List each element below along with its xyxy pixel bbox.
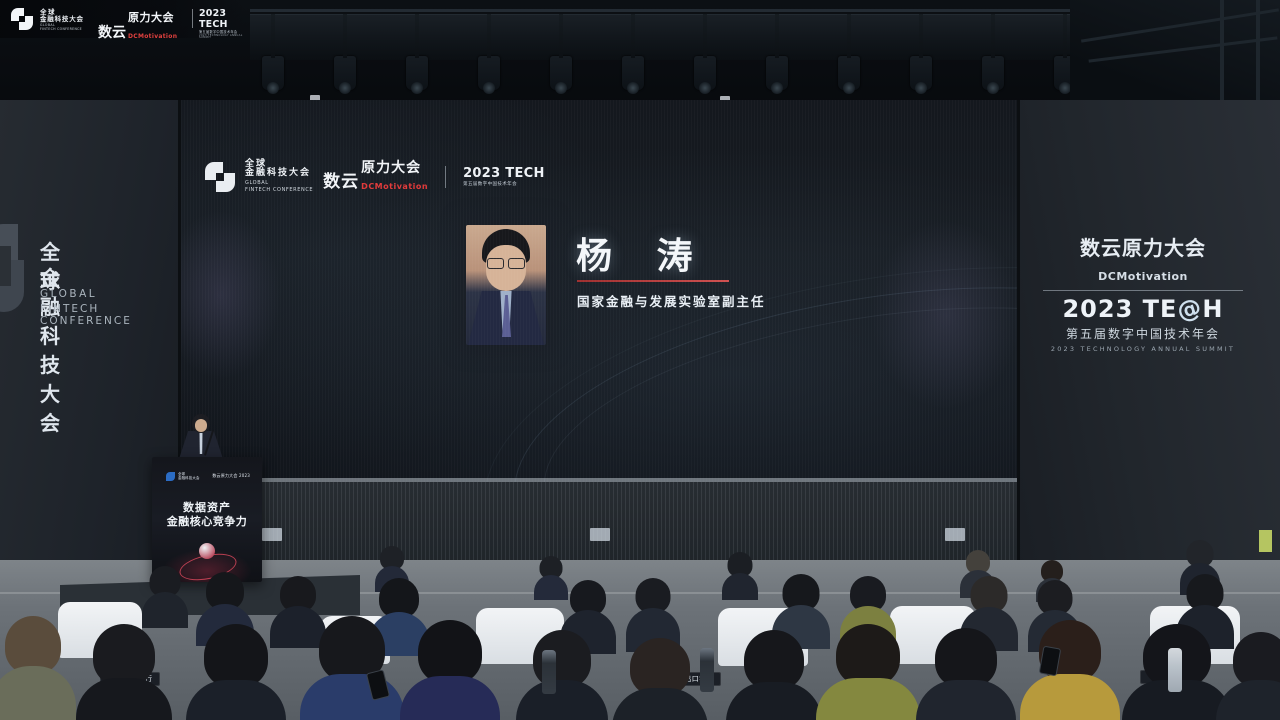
fintech-wordmark: 全球 金融科技大会 GLOBAL FINTECH CONFERENCE (40, 9, 84, 31)
tech-summit-logo: 2023 TECH 第五届数字中国技术年会 (463, 166, 545, 187)
audience-member (516, 630, 608, 720)
light-hanger (343, 14, 347, 58)
stage-light (622, 56, 644, 90)
right-wall-en-sub: 2023 TECHNOLOGY ANNUAL SUMMIT (1028, 345, 1258, 353)
audience-member (612, 638, 708, 720)
right-wall-en-title: DCMotivation (1098, 270, 1188, 283)
live-speaker (178, 414, 224, 462)
speaker-portrait-photo (466, 225, 546, 345)
audience-member (816, 624, 920, 720)
overlay-year: 2023 TECH (199, 9, 245, 31)
right-wall-year: 2023 TE@H (1028, 295, 1258, 323)
stage-light (550, 56, 572, 90)
speaker-name-rule (577, 280, 729, 282)
audience-member (300, 616, 404, 720)
light-hanger (775, 14, 779, 58)
audience-member (400, 620, 500, 720)
overlay-dc-mark: 数云 (98, 22, 126, 42)
overlay-dc-title: 原力大会 (128, 11, 174, 24)
logo-divider (445, 166, 446, 188)
orbit-arc-2 (526, 268, 1017, 482)
overlay-fintech-en2: FINTECH CONFERENCE (40, 28, 84, 32)
stage-light (262, 56, 284, 90)
right-wall-cn-title: 数云原力大会 DCMotivation (1028, 232, 1258, 285)
stage-light (334, 56, 356, 90)
podium-logo-cn2: 金融科技大会 (178, 477, 200, 481)
fintech-en2: FINTECH CONFERENCE (245, 188, 313, 193)
tech-year: 2023 TECH (463, 166, 545, 181)
nebula-glow-left (181, 210, 281, 380)
audience-member (722, 552, 758, 598)
tech-year-sub: 第五届数字中国技术年会 (463, 181, 545, 187)
orbit-arc-3 (461, 218, 1017, 482)
water-bottle (1168, 648, 1182, 692)
fintech-logo-icon (11, 8, 33, 30)
podium-logo-left: 全球 金融科技大会 (166, 472, 200, 481)
stage-light (838, 56, 860, 90)
dc-title: 原力大会 (361, 161, 428, 176)
conference-hall-scene: 全球 金融科技大会 GLOBAL FINTECH CONFERENCE 数云 原… (0, 0, 1280, 720)
light-hanger (847, 14, 851, 58)
fintech-logo-icon (205, 162, 235, 192)
nebula-glow-right (871, 220, 1017, 410)
right-wall-cn-title-text: 数云原力大会 (1080, 236, 1206, 260)
stage-light (478, 56, 500, 90)
overlay-fintech-cn2: 金融科技大会 (40, 16, 84, 23)
overlay-dc-sub: DCMotivation (128, 33, 177, 40)
speaker-name: 杨 涛 (576, 227, 709, 279)
stage-light (982, 56, 1004, 90)
water-bottle (542, 650, 556, 694)
audience-member (186, 624, 286, 720)
speaker-title: 国家金融与发展实验室副主任 (577, 291, 766, 310)
orbit-arc-1 (494, 243, 1017, 482)
light-hanger (415, 14, 419, 58)
dcmotivation-logo: 数云 原力大会 DCMotivation (323, 161, 428, 192)
audience-member (1020, 620, 1120, 720)
glasses-icon (487, 258, 525, 267)
dc-sub: DCMotivation (361, 182, 428, 191)
podium-logo-text: 全球 金融科技大会 (178, 473, 200, 481)
overlay-divider (192, 9, 193, 28)
right-wall-year-tail: H (1202, 295, 1223, 323)
fintech-cn2: 金融科技大会 (245, 169, 313, 178)
tech-summit-wordmark: 2023 TECH 第五届数字中国技术年会 2023 TECHNOLOGY AN… (199, 9, 245, 40)
audience-member (1216, 632, 1280, 720)
stage-light (766, 56, 788, 90)
right-wall-branding: 数云原力大会 DCMotivation 2023 TE@H 第五届数字中国技术年… (1028, 232, 1258, 353)
light-hanger (703, 14, 707, 58)
audience-member (726, 630, 822, 720)
fintech-cn1: 全球 (245, 160, 313, 169)
audience-member (916, 628, 1016, 720)
stage-light (694, 56, 716, 90)
dc-mark: 数云 (323, 167, 359, 192)
light-hanger (487, 14, 491, 58)
left-wall-logo-icon (0, 224, 32, 312)
stage-light (406, 56, 428, 90)
broadcast-logo-bar: 全球 金融科技大会 GLOBAL FINTECH CONFERENCE 数云 原… (0, 0, 245, 38)
podium-logo-right: 数云原力大会 2023 (212, 473, 250, 479)
audience-member (142, 566, 188, 624)
left-wall-en1: GLOBAL (40, 288, 97, 300)
light-hanger (1063, 14, 1067, 58)
right-wall-year-head: 2023 TE (1062, 295, 1177, 323)
light-hanger (559, 14, 563, 58)
fintech-en1: GLOBAL (245, 181, 313, 186)
light-hanger (631, 14, 635, 58)
light-hanger (271, 14, 275, 58)
water-bottle (700, 648, 714, 692)
fintech-logo-text: 全球 金融科技大会 GLOBAL FINTECH CONFERENCE (245, 160, 313, 193)
left-wall-en2: FINTECH CONFERENCE (40, 303, 132, 327)
dcmotivation-wordmark: 数云 原力大会 DCMotivation (98, 8, 177, 42)
right-wall-cn-sub: 第五届数字中国技术年会 (1028, 325, 1258, 342)
stage-light (910, 56, 932, 90)
light-hanger (919, 14, 923, 58)
audience-member (76, 624, 172, 720)
main-led-screen: 全球 金融科技大会 GLOBAL FINTECH CONFERENCE 数云 原… (181, 100, 1017, 482)
screen-logo-row: 全球 金融科技大会 GLOBAL FINTECH CONFERENCE 数云 原… (205, 160, 545, 193)
podium-logo-icon (166, 472, 175, 481)
audience-member (0, 616, 76, 720)
light-hanger (991, 14, 995, 58)
overlay-en-sub: 2023 TECHNOLOGY ANNUAL SUMMIT (199, 35, 245, 41)
audience-seating: 中国民生银行 中国进出口银行 中信银行 (0, 520, 1280, 720)
right-wall-divider (1043, 290, 1243, 291)
